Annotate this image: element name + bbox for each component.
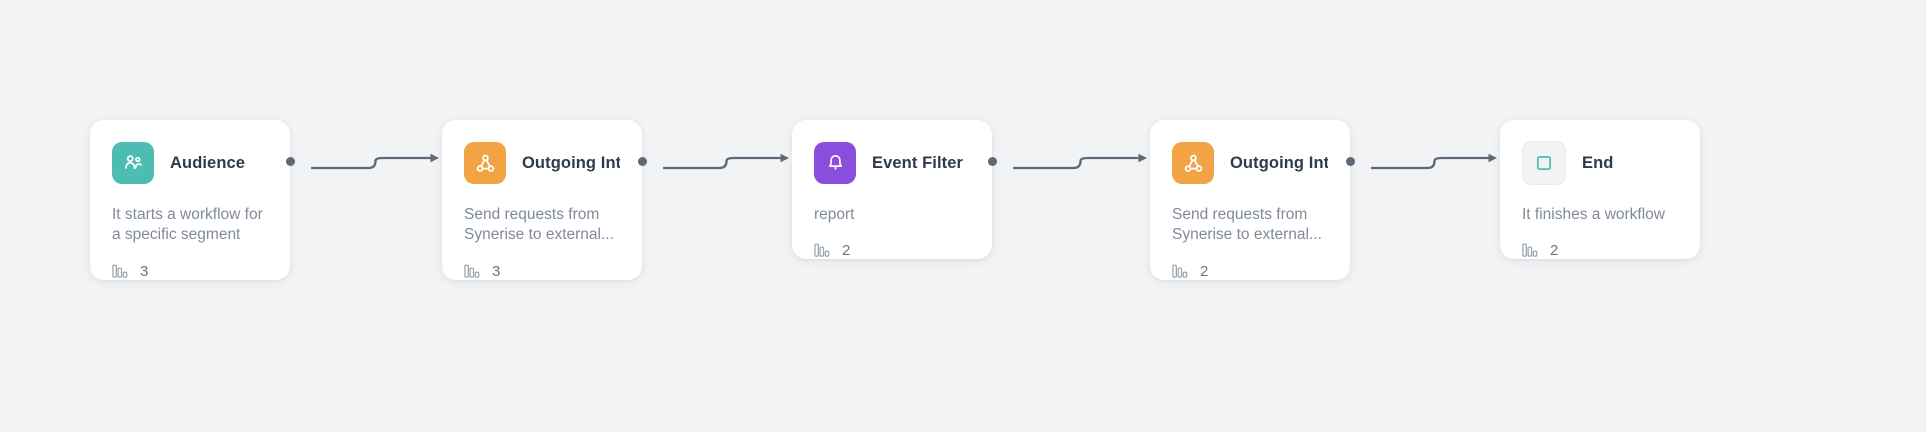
node-stats[interactable]: 3 [464, 263, 620, 280]
node-stat-count: 3 [140, 263, 148, 280]
workflow-node-audience[interactable]: AudienceIt starts a workflow for a speci… [90, 120, 290, 280]
connector-path [664, 147, 789, 181]
node-stat-count: 2 [1550, 242, 1558, 259]
webhook-icon [464, 142, 506, 184]
end-square-icon [1522, 141, 1566, 185]
node-stat-count: 2 [1200, 263, 1208, 280]
node-output-port[interactable] [286, 157, 295, 166]
node-description: report [814, 205, 970, 225]
node-stats[interactable]: 2 [814, 242, 970, 259]
workflow-node-end[interactable]: EndIt finishes a workflow2 [1500, 120, 1700, 259]
node-description: Send requests from Synerise to external.… [464, 205, 620, 246]
node-output-port[interactable] [1346, 157, 1355, 166]
node-stats[interactable]: 3 [112, 263, 268, 280]
node-title: Audience [170, 154, 245, 173]
stats-bar-icon [1522, 243, 1539, 258]
connector-event-filter-to-outgoing-2[interactable] [1014, 147, 1147, 181]
node-title: End [1582, 154, 1613, 173]
node-output-port[interactable] [638, 157, 647, 166]
connector-path [1014, 147, 1147, 181]
node-description: Send requests from Synerise to external.… [1172, 205, 1328, 246]
node-title: Outgoing Integr... [1230, 154, 1328, 173]
audience-people-icon [112, 142, 154, 184]
connector-path [312, 147, 439, 181]
workflow-node-outgoing-integration-1[interactable]: Outgoing Integr...Send requests from Syn… [442, 120, 642, 280]
node-header: Outgoing Integr... [464, 142, 620, 184]
connector-outgoing-2-to-end[interactable] [1372, 147, 1497, 181]
workflow-node-event-filter[interactable]: Event Filterreport2 [792, 120, 992, 259]
node-description: It starts a workflow for a specific segm… [112, 205, 268, 246]
node-stats[interactable]: 2 [1522, 242, 1678, 259]
connector-path [1372, 147, 1497, 181]
connector-outgoing-1-to-event-filter[interactable] [664, 147, 789, 181]
node-stats[interactable]: 2 [1172, 263, 1328, 280]
node-title: Outgoing Integr... [522, 154, 620, 173]
stats-bar-icon [1172, 264, 1189, 279]
node-stat-count: 3 [492, 263, 500, 280]
node-header: Event Filter [814, 142, 970, 184]
node-title: Event Filter [872, 154, 963, 173]
node-header: Outgoing Integr... [1172, 142, 1328, 184]
connector-audience-to-outgoing-1[interactable] [312, 147, 439, 181]
bell-event-icon [814, 142, 856, 184]
webhook-icon [1172, 142, 1214, 184]
node-stat-count: 2 [842, 242, 850, 259]
node-output-port[interactable] [988, 157, 997, 166]
stats-bar-icon [814, 243, 831, 258]
node-header: End [1522, 142, 1678, 184]
workflow-node-outgoing-integration-2[interactable]: Outgoing Integr...Send requests from Syn… [1150, 120, 1350, 280]
node-description: It finishes a workflow [1522, 205, 1678, 225]
workflow-canvas[interactable]: AudienceIt starts a workflow for a speci… [0, 0, 1926, 432]
stats-bar-icon [464, 264, 481, 279]
stats-bar-icon [112, 264, 129, 279]
node-header: Audience [112, 142, 268, 184]
